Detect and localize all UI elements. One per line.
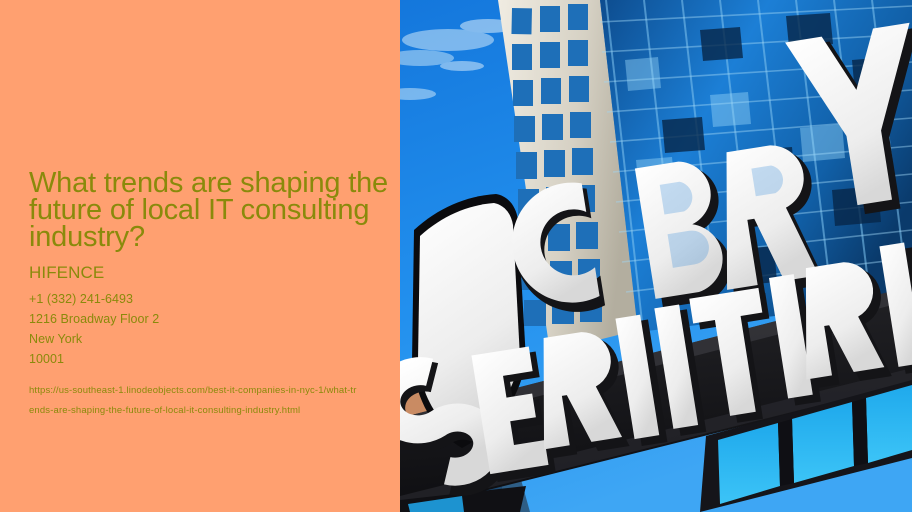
slide-root: What trends are shaping the future of lo…: [0, 0, 912, 512]
brand-name: HIFENCE: [29, 263, 389, 283]
building-photo: [400, 0, 912, 512]
building-photo-illustration: [400, 0, 912, 512]
left-text-panel: What trends are shaping the future of lo…: [0, 0, 400, 512]
contact-zip: 10001: [29, 349, 389, 369]
contact-phone: +1 (332) 241-6493: [29, 289, 389, 309]
page-title: What trends are shaping the future of lo…: [29, 170, 394, 251]
contact-city: New York: [29, 329, 389, 349]
contact-street: 1216 Broadway Floor 2: [29, 309, 389, 329]
text-block: What trends are shaping the future of lo…: [29, 170, 389, 421]
source-url[interactable]: https://us-southeast-1.linodeobjects.com…: [29, 381, 359, 421]
